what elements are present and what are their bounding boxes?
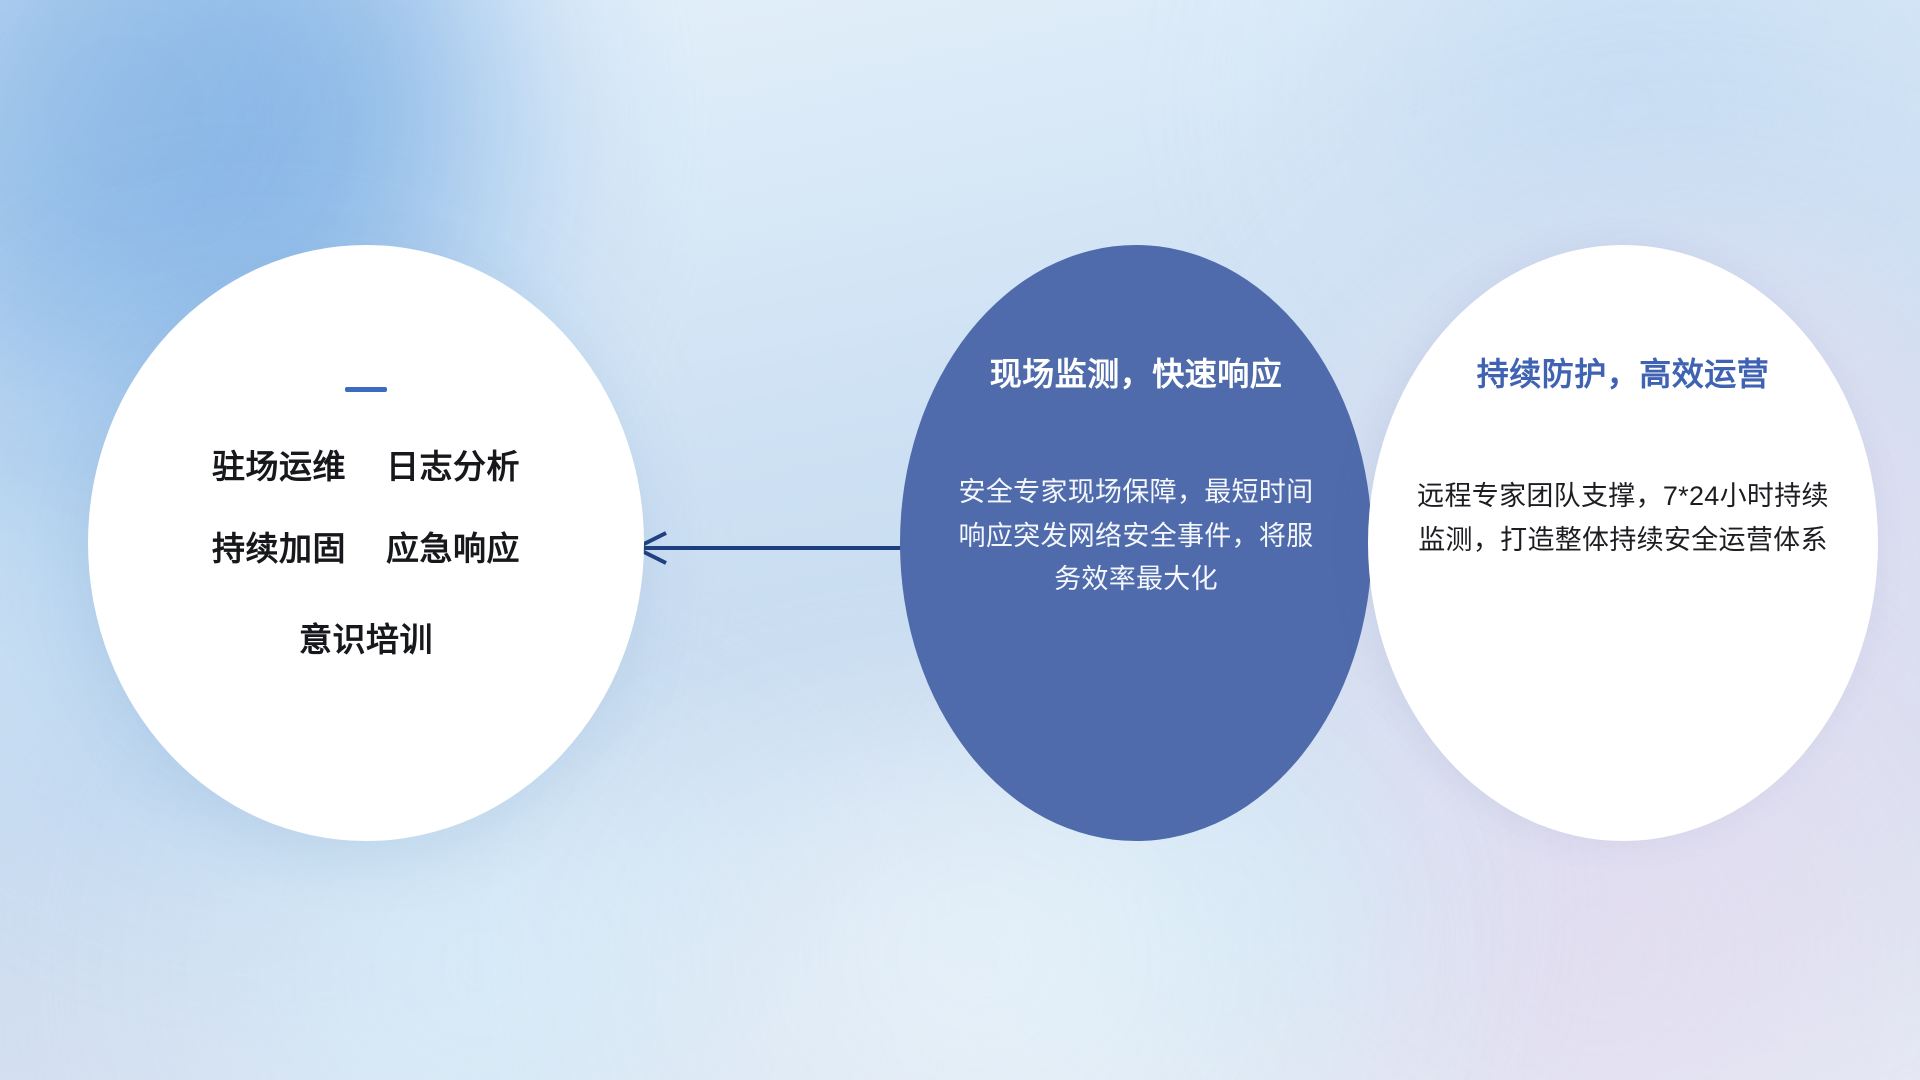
circle-body-text: 安全专家现场保障，最短时间响应突发网络安全事件，将服务效率最大化 bbox=[950, 471, 1322, 602]
arrow-left-icon bbox=[600, 520, 920, 576]
circle-title: 现场监测，快速响应 bbox=[990, 349, 1283, 395]
keyword-row: 持续加固 应急响应 bbox=[212, 532, 520, 567]
circle-body-text: 远程专家团队支撑，7*24小时持续监测，打造整体持续安全运营体系 bbox=[1408, 475, 1838, 562]
keyword-item: 日志分析 bbox=[386, 450, 520, 485]
keyword-row: 驻场运维 日志分析 bbox=[212, 450, 520, 485]
keyword-item: 持续加固 bbox=[212, 532, 346, 567]
keyword-item: 驻场运维 bbox=[212, 450, 346, 485]
slide-canvas: 驻场运维 日志分析 持续加固 应急响应 意识培训 现场监测，快速响应 安全专家现… bbox=[0, 0, 1920, 1080]
keyword-item: 应急响应 bbox=[386, 532, 520, 567]
onsite-monitoring-circle[interactable]: 现场监测，快速响应 安全专家现场保障，最短时间响应突发网络安全事件，将服务效率最… bbox=[900, 245, 1372, 841]
keyword-item: 意识培训 bbox=[299, 613, 433, 661]
capabilities-circle[interactable]: 驻场运维 日志分析 持续加固 应急响应 意识培训 bbox=[88, 245, 644, 841]
circle-title: 持续防护，高效运营 bbox=[1477, 349, 1770, 395]
continuous-protection-circle[interactable]: 持续防护，高效运营 远程专家团队支撑，7*24小时持续监测，打造整体持续安全运营… bbox=[1368, 245, 1878, 841]
connector-arrow bbox=[600, 520, 920, 576]
accent-dash bbox=[345, 387, 387, 392]
